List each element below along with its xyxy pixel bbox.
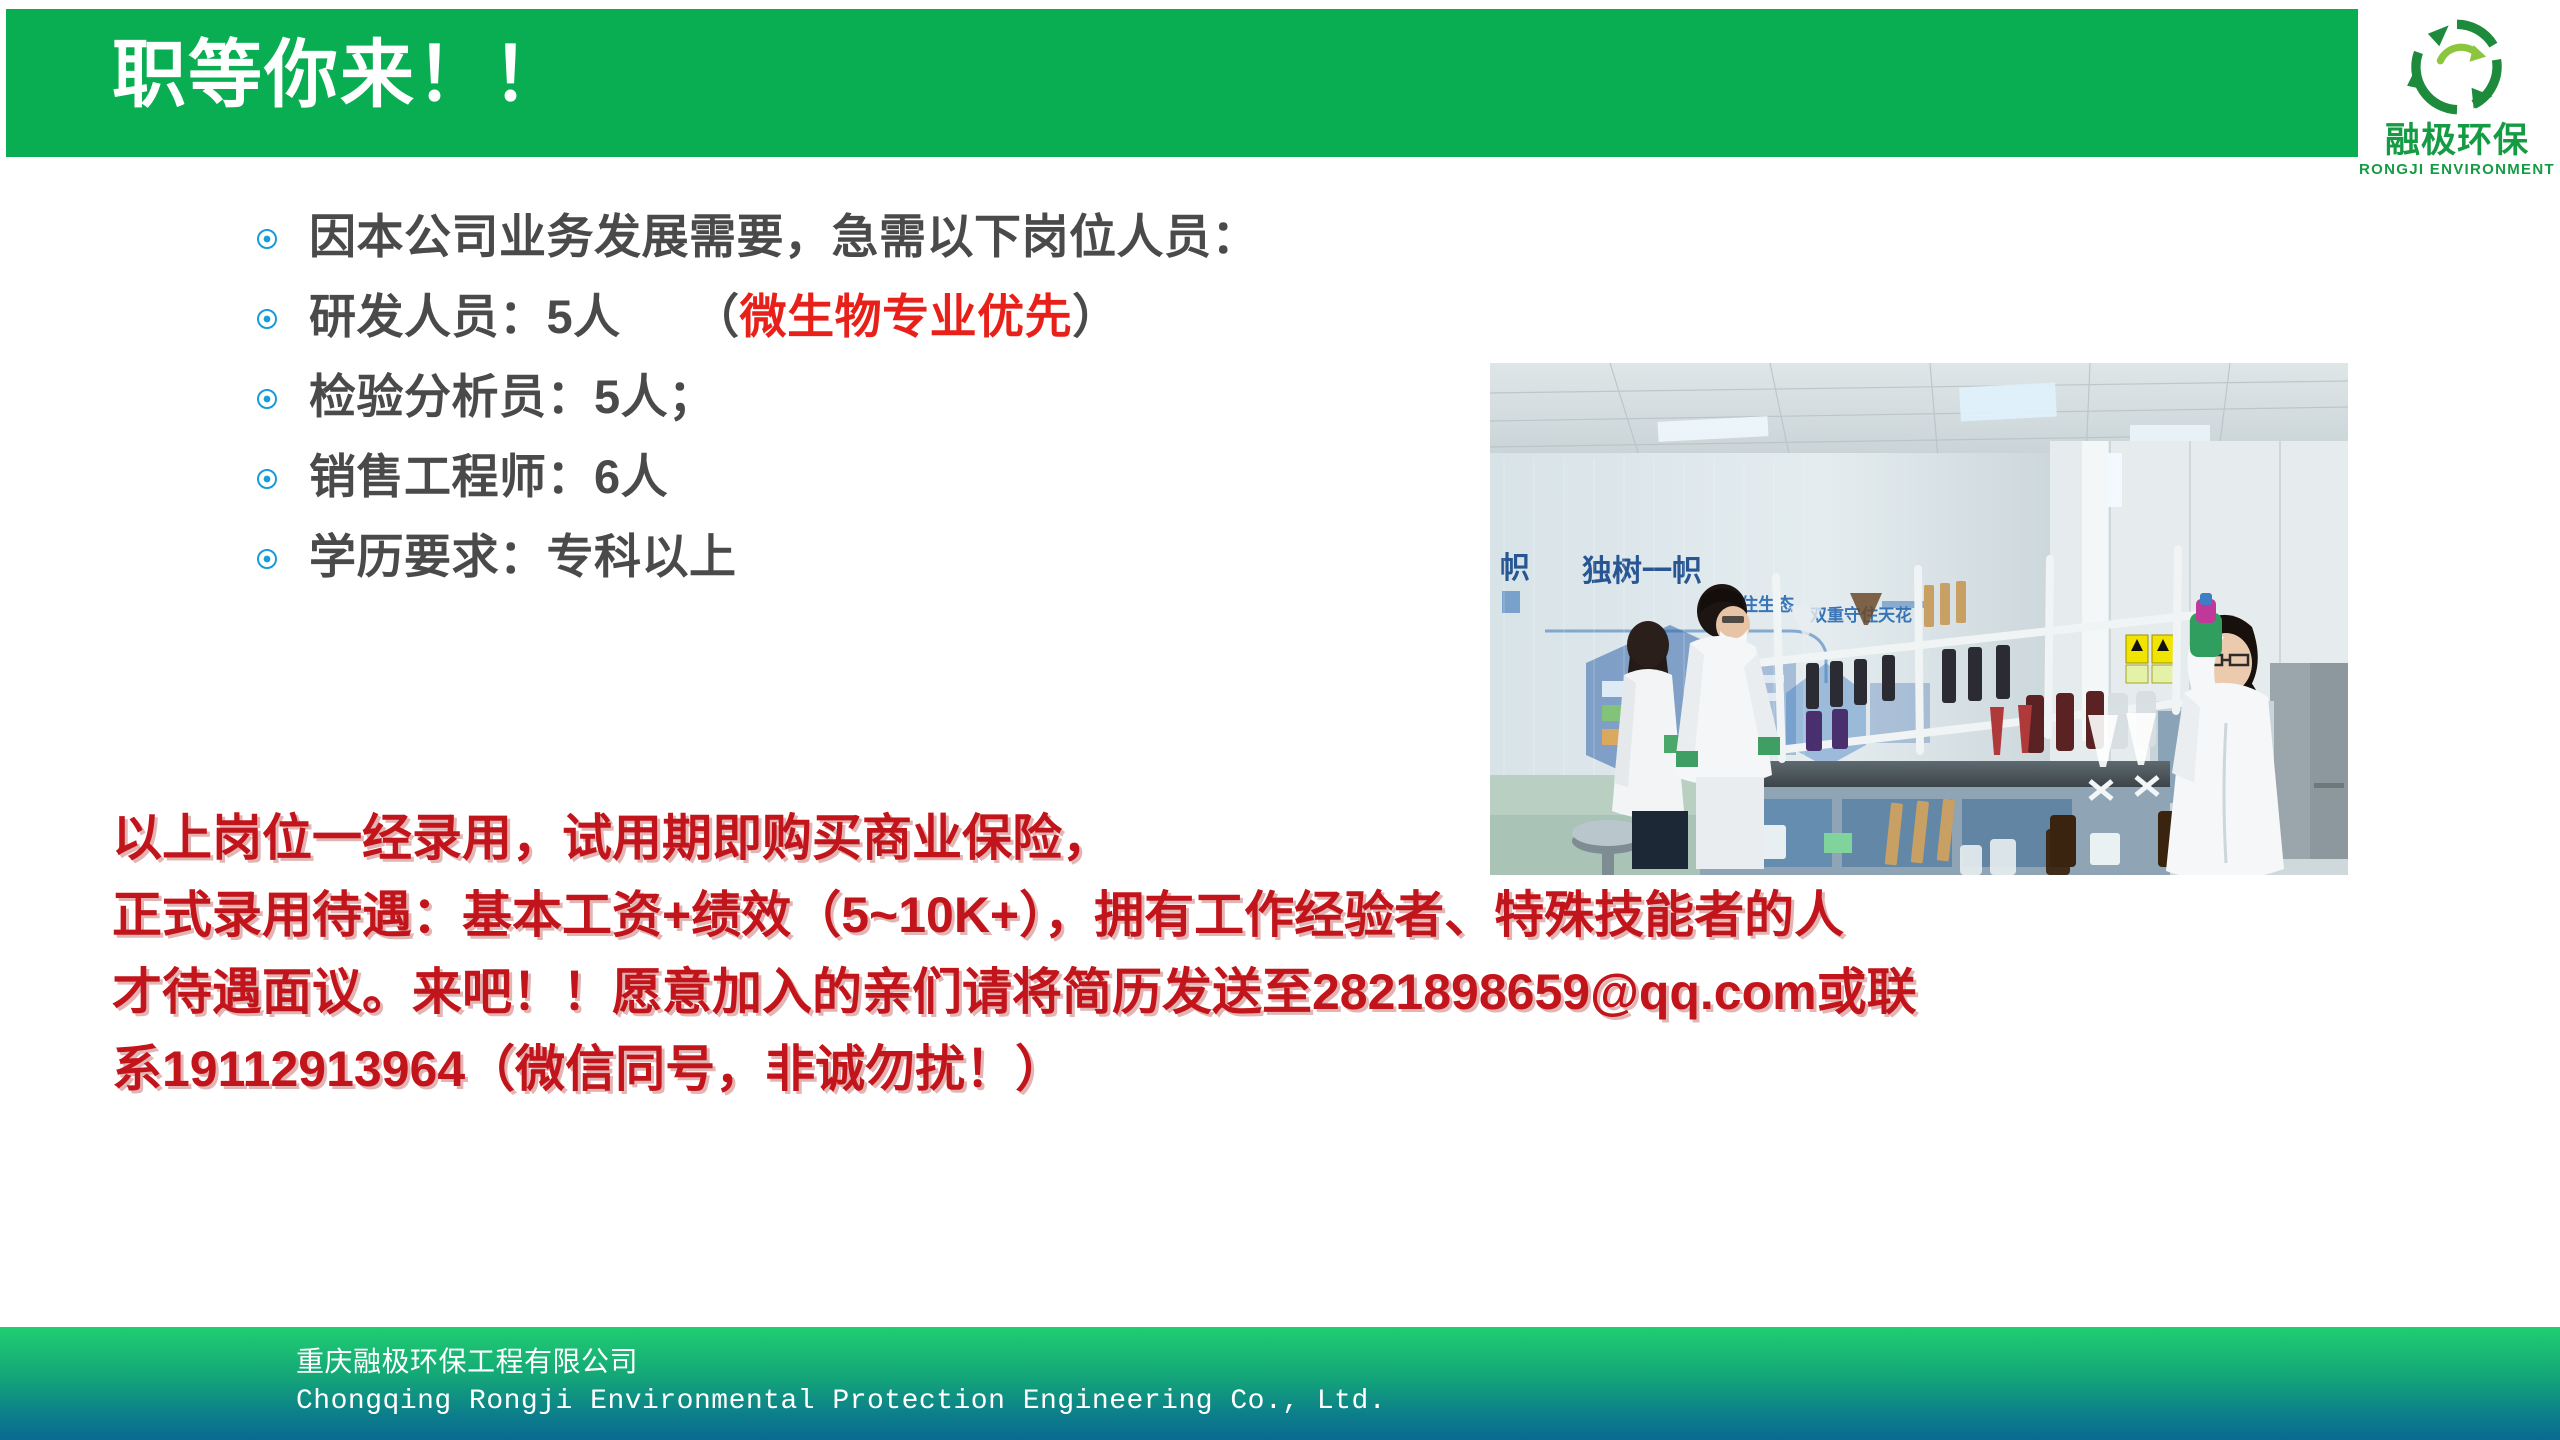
- recycling-circle-icon: [2405, 15, 2509, 119]
- logo-chinese-name: 融极环保: [2385, 121, 2529, 161]
- list-item: 销售工程师：6人: [255, 440, 1485, 514]
- list-item-label: 检验分析员：5人；: [309, 367, 716, 427]
- bullet-dot-icon: [255, 547, 279, 571]
- bullet-dot-icon: [255, 467, 279, 491]
- list-item-tail: ）: [1072, 290, 1120, 343]
- list-item-label: 因本公司业务发展需要，急需以下岗位人员：: [309, 207, 1259, 267]
- notice-line: 以上岗位一经录用，试用期即购买商业保险，: [112, 800, 2442, 877]
- logo-english-name: RONGJI ENVIRONMENT: [2359, 161, 2555, 179]
- laboratory-photo: 帜 独树一帜 守住生态 双重守住天花: [1490, 363, 2348, 875]
- list-item: 检验分析员：5人；: [255, 360, 1485, 434]
- list-item-label: 学历要求：专科以上: [309, 527, 737, 587]
- list-item-highlight: 微生物专业优先: [740, 290, 1073, 343]
- bullet-dot-icon: [255, 307, 279, 331]
- list-item-label: 研发人员：5人 （微生物专业优先）: [309, 287, 1120, 347]
- notice-line: 才待遇面议。来吧！！愿意加入的亲们请将简历发送至2821898659@qq.co…: [112, 954, 2442, 1031]
- slide-canvas: 职等你来！！ 融极环保 RONGJI ENVIRONMENT: [0, 0, 2560, 1440]
- bullet-dot-icon: [255, 227, 279, 251]
- footer-company-name-en: Chongqing Rongji Environmental Protectio…: [296, 1383, 1386, 1421]
- list-item-text: 研发人员：5人 （: [309, 290, 740, 343]
- list-item-label: 销售工程师：6人: [309, 447, 668, 507]
- compensation-notice: 以上岗位一经录用，试用期即购买商业保险， 正式录用待遇：基本工资+绩效（5~10…: [112, 800, 2442, 1108]
- page-title: 职等你来！！: [112, 22, 568, 128]
- list-item: 因本公司业务发展需要，急需以下岗位人员：: [255, 200, 1485, 274]
- list-item: 研发人员：5人 （微生物专业优先）: [255, 280, 1485, 354]
- footer-company-name-cn: 重庆融极环保工程有限公司: [296, 1343, 638, 1381]
- job-openings-list: 因本公司业务发展需要，急需以下岗位人员： 研发人员：5人 （微生物专业优先） 检…: [255, 200, 1485, 594]
- list-item: 学历要求：专科以上: [255, 520, 1485, 594]
- company-logo: 融极环保 RONGJI ENVIRONMENT: [2358, 7, 2556, 209]
- laboratory-photo-illustration: 帜 独树一帜 守住生态 双重守住天花: [1490, 363, 2348, 875]
- notice-line: 系19112913964（微信同号，非诚勿扰！）: [112, 1031, 2442, 1108]
- bullet-dot-icon: [255, 387, 279, 411]
- notice-line: 正式录用待遇：基本工资+绩效（5~10K+），拥有工作经验者、特殊技能者的人: [112, 877, 2442, 954]
